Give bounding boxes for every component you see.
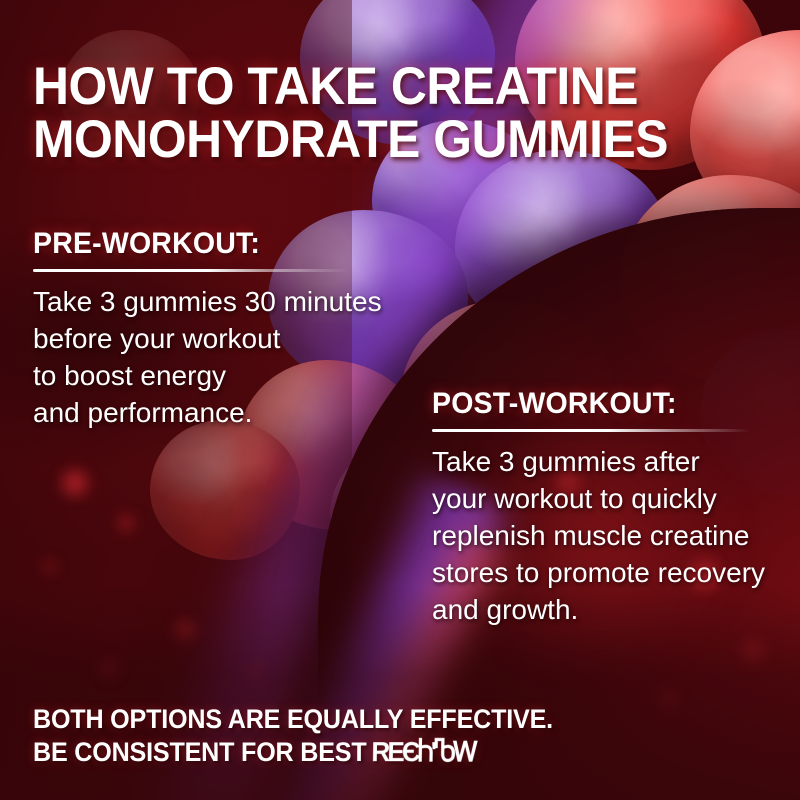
body-line: and performance. (33, 394, 433, 431)
section-body-pre-workout: Take 3 gummies 30 minutes before your wo… (33, 283, 433, 431)
footer-line-2-prefix: BE CONSISTENT FOR BEST (33, 737, 373, 767)
footer-line-2-glitched-word: REЄႹ'ႪᎳ (371, 736, 476, 770)
body-line: before your workout (33, 320, 433, 357)
page-title-line-2: MONOHYDRATE GUMMIES (33, 113, 691, 166)
section-divider-rule (432, 429, 750, 432)
body-line: stores to promote recovery (432, 554, 792, 591)
section-post-workout: POST-WORKOUT: Take 3 gummies after your … (432, 388, 792, 628)
poster-canvas: HOW TO TAKE CREATINE MONOHYDRATE GUMMIES… (0, 0, 800, 800)
page-title: HOW TO TAKE CREATINE MONOHYDRATE GUMMIES (33, 60, 691, 166)
footer-tagline: BOTH OPTIONS ARE EQUALLY EFFECTIVE. BE C… (33, 703, 721, 769)
section-title-post-workout: POST-WORKOUT: (432, 388, 774, 420)
footer-line-1: BOTH OPTIONS ARE EQUALLY EFFECTIVE. (33, 703, 721, 736)
bokeh-dot (118, 515, 134, 531)
page-title-line-1: HOW TO TAKE CREATINE (33, 57, 638, 116)
bokeh-dot (62, 470, 88, 496)
body-line: to boost energy (33, 357, 433, 394)
body-line: Take 3 gummies after (432, 443, 792, 480)
body-line: and growth. (432, 591, 792, 628)
section-title-pre-workout: PRE-WORKOUT: (33, 228, 413, 260)
section-body-post-workout: Take 3 gummies after your workout to qui… (432, 443, 792, 628)
section-pre-workout: PRE-WORKOUT: Take 3 gummies 30 minutes b… (33, 228, 433, 431)
section-divider-rule (33, 269, 348, 272)
footer-line-2: BE CONSISTENT FOR BEST REЄႹ'ႪᎳ (33, 736, 721, 769)
bokeh-dot (44, 560, 56, 572)
body-line: Take 3 gummies 30 minutes (33, 283, 433, 320)
body-line: your workout to quickly (432, 480, 792, 517)
body-line: replenish muscle creatine (432, 517, 792, 554)
